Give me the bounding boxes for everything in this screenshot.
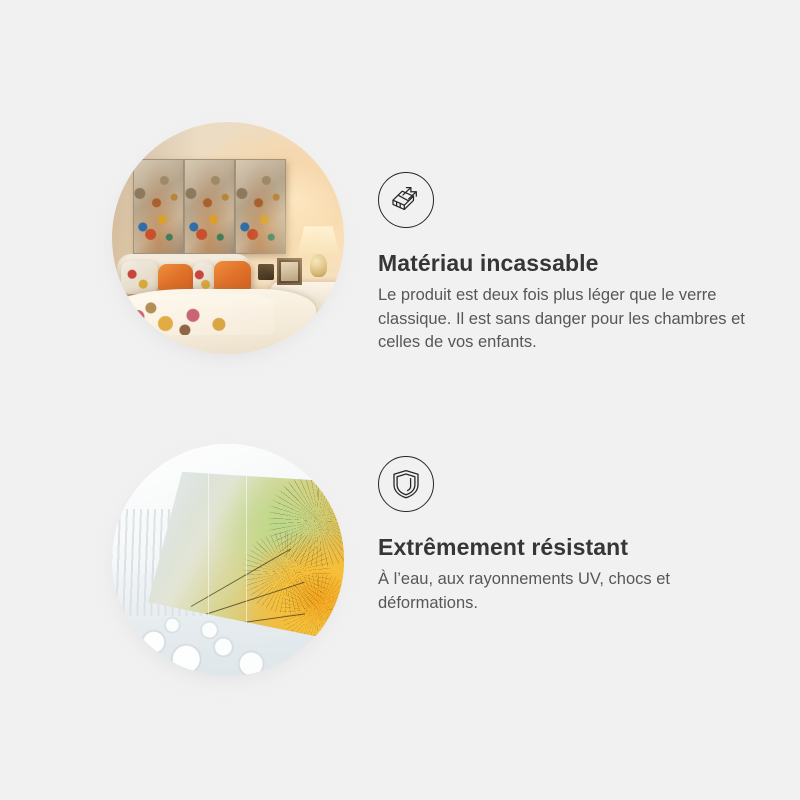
- bedroom-triptych-canvas-photo: [112, 122, 344, 354]
- lamp-shade: [298, 226, 340, 254]
- lamp-base: [310, 254, 326, 277]
- feature-description: Le produit est deux fois plus léger que …: [378, 284, 746, 355]
- feature-description: À l’eau, aux rayonnements UV, chocs et d…: [378, 568, 746, 615]
- product-image-circle-2: [106, 440, 346, 680]
- feature-text-material: Matériau incassable Le produit est deux …: [346, 118, 758, 355]
- feature-block-resistance: Extrêmement résistant À l’eau, aux rayon…: [0, 440, 800, 680]
- feature-benefits-page: Matériau incassable Le produit est deux …: [0, 0, 800, 800]
- print-seam-2: [246, 472, 247, 648]
- feature-text-resistance: Extrêmement résistant À l’eau, aux rayon…: [346, 440, 758, 615]
- shield-icon: [378, 456, 434, 512]
- paisley-bedspread: [112, 294, 274, 336]
- feature-title: Matériau incassable: [378, 250, 758, 277]
- bedroom-scene: [112, 122, 344, 354]
- canvas-panel-right: [235, 159, 286, 254]
- product-image-circle-1: [106, 118, 346, 358]
- picture-frame: [277, 258, 302, 285]
- feature-title: Extrêmement résistant: [378, 534, 758, 561]
- flexible-layers-arrows-icon: [378, 172, 434, 228]
- feature-block-material: Matériau incassable Le produit est deux …: [0, 118, 800, 358]
- nightstand-box: [258, 264, 274, 280]
- canvas-panel-left: [133, 159, 184, 254]
- canvas-panel-center: [184, 159, 235, 254]
- pillow-patterned-left: [121, 261, 158, 293]
- dandelion-glass-print-photo: [112, 444, 344, 676]
- dandelion-scene: [112, 444, 344, 676]
